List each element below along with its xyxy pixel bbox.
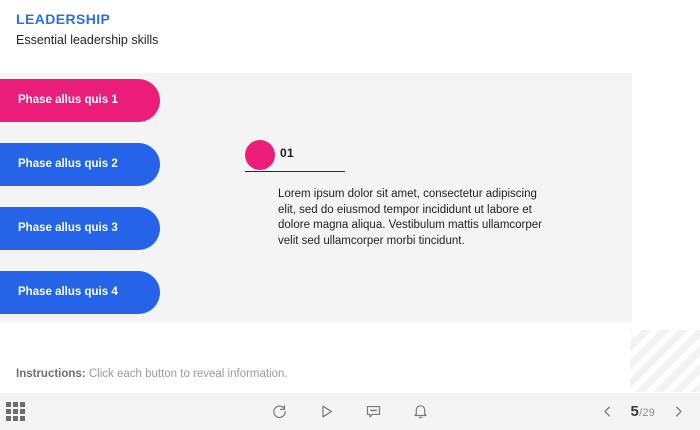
phase-number: 01 [280, 146, 294, 160]
slide-canvas: LEADERSHIP Essential leadership skills P… [0, 0, 700, 430]
chevron-left-icon[interactable] [600, 404, 615, 419]
toolbar-center-group [0, 393, 700, 430]
page-indicator: 5/29 [631, 403, 655, 420]
toolbar-left-group [6, 393, 25, 430]
phase-button-1[interactable]: Phase allus quis 1 [0, 79, 160, 122]
current-page-number: 5 [631, 403, 640, 420]
grid-icon[interactable] [6, 402, 25, 421]
player-toolbar: 5/29 [0, 393, 700, 430]
page-subtitle: Essential leadership skills [16, 32, 636, 49]
captions-icon[interactable] [365, 403, 382, 420]
phase-button-list: Phase allus quis 1 Phase allus quis 2 Ph… [0, 79, 162, 335]
total-page-count: /29 [639, 407, 655, 419]
replay-icon[interactable] [271, 403, 288, 420]
instructions-line: Instructions: Click each button to revea… [16, 366, 288, 382]
slide-header: LEADERSHIP Essential leadership skills [16, 10, 636, 49]
heading-underline [245, 171, 345, 172]
page-title: LEADERSHIP [16, 10, 636, 28]
content-heading: 01 [245, 140, 545, 172]
revealed-content: 01 Lorem ipsum dolor sit amet, consectet… [245, 140, 545, 249]
content-body-text: Lorem ipsum dolor sit amet, consectetur … [278, 187, 546, 249]
chevron-right-icon[interactable] [671, 404, 686, 419]
phase-marker-dot [245, 140, 275, 170]
instructions-text: Click each button to reveal information. [89, 368, 288, 380]
bell-icon[interactable] [412, 403, 429, 420]
instructions-label: Instructions: [16, 368, 86, 380]
phase-button-2[interactable]: Phase allus quis 2 [0, 143, 160, 186]
play-icon[interactable] [318, 403, 335, 420]
toolbar-right-group: 5/29 [600, 393, 686, 430]
decorative-stripes [630, 330, 700, 392]
phase-button-4[interactable]: Phase allus quis 4 [0, 271, 160, 314]
phase-button-3[interactable]: Phase allus quis 3 [0, 207, 160, 250]
